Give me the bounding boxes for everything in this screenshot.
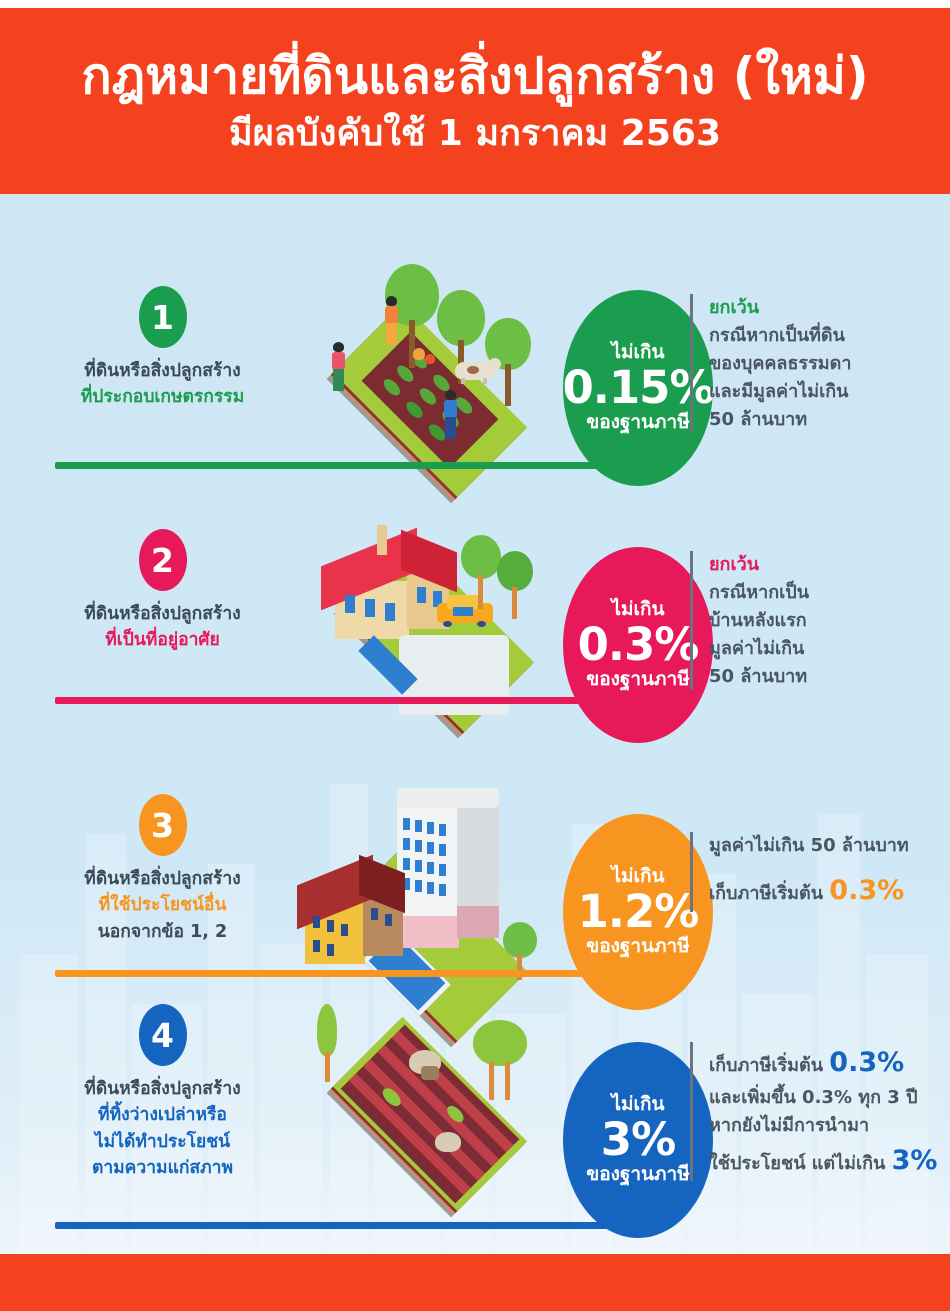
section-1-notes: ยกเว้น กรณีหากเป็นที่ดิน ของบุคคลธรรมดา … [690, 294, 851, 433]
infographic-poster: กฎหมายที่ดินและสิ่งปลูกสร้าง (ใหม่) มีผล… [0, 0, 950, 1311]
section-1-note-line: ของบุคคลธรรมดา [709, 350, 851, 378]
commercial-building-plot-icon [255, 774, 585, 1024]
section-3-label-line-1: ที่ดินหรือสิ่งปลูกสร้าง [40, 866, 285, 892]
section-4-note-4-prefix: ใช้ประโยชน์ แต่ไม่เกิน [709, 1153, 885, 1174]
rate-value-3: 1.2% [578, 888, 699, 935]
section-3-label-line-2: ที่ใช้ประโยชน์อื่น [40, 892, 285, 918]
section-4-note-line-3: หากยังไม่มีการนำมา [709, 1112, 937, 1140]
farmland-plot-icon [265, 260, 595, 510]
footer-band [0, 1254, 950, 1311]
section-3-note-highlight-value: 0.3% [829, 875, 904, 906]
section-number-badge-3: 3 [139, 794, 187, 856]
section-1-note-line: 50 ล้านบาท [709, 406, 851, 434]
poster-body: 1 ที่ดินหรือสิ่งปลูกสร้าง ที่ประกอบเกษตร… [0, 194, 950, 1254]
section-4-label-line-1: ที่ดินหรือสิ่งปลูกสร้าง [40, 1076, 285, 1102]
section-4-note-line-2: และเพิ่มขึ้น 0.3% ทุก 3 ปี [709, 1084, 937, 1112]
section-4-note-1-prefix: เก็บภาษีเริ่มต้น [709, 1055, 823, 1076]
section-number-badge-2: 2 [139, 529, 187, 591]
poster-header: กฎหมายที่ดินและสิ่งปลูกสร้าง (ใหม่) มีผล… [0, 8, 950, 194]
car-icon [437, 595, 497, 627]
section-2-divider [55, 697, 670, 704]
section-1-note-heading: ยกเว้น [709, 294, 851, 322]
section-1-label-line-1: ที่ดินหรือสิ่งปลูกสร้าง [40, 358, 285, 384]
section-1-note-line: และมีมูลค่าไม่เกิน [709, 378, 851, 406]
section-4-note-line-1: เก็บภาษีเริ่มต้น 0.3% [709, 1042, 937, 1084]
tower-windows [401, 818, 457, 904]
section-3-note-highlight-line: เก็บภาษีเริ่มต้น 0.3% [709, 870, 909, 912]
section-3-note-line: มูลค่าไม่เกิน 50 ล้านบาท [709, 832, 909, 860]
section-2-note-line: บ้านหลังแรก [709, 607, 809, 635]
section-4-label-line-3: ไม่ได้ทำประโยชน์ [40, 1129, 285, 1155]
section-4-note-1-value: 0.3% [829, 1047, 904, 1078]
rate-suffix-1: ของฐานภาษี [586, 413, 690, 433]
section-2-notes: ยกเว้น กรณีหากเป็น บ้านหลังแรก มูลค่าไม่… [690, 551, 809, 690]
section-2-note-heading: ยกเว้น [709, 551, 809, 579]
section-1-label-line-2: ที่ประกอบเกษตรกรรม [40, 384, 285, 410]
section-3-note-highlight-prefix: เก็บภาษีเริ่มต้น [709, 883, 823, 904]
section-4-note-line-4: ใช้ประโยชน์ แต่ไม่เกิน 3% [709, 1140, 937, 1182]
section-3-divider [55, 970, 670, 977]
section-4-note-4-value: 3% [892, 1145, 938, 1176]
section-3-label-line-3: นอกจากข้อ 1, 2 [40, 919, 285, 945]
section-residential: 2 ที่ดินหรือสิ่งปลูกสร้าง ที่เป็นที่อยู่… [0, 499, 950, 779]
section-number-badge-4: 4 [139, 1004, 187, 1066]
rate-prefix-1: ไม่เกิน [611, 343, 664, 363]
page-subtitle: มีผลบังคับใช้ 1 มกราคม 2563 [229, 112, 721, 155]
chicken-icon [425, 354, 435, 364]
section-4-divider [55, 1222, 670, 1229]
section-vacant-land: 4 ที่ดินหรือสิ่งปลูกสร้าง ที่ทิ้งว่างเปล… [0, 994, 950, 1254]
rate-suffix-4: ของฐานภาษี [586, 1165, 690, 1185]
page-title: กฎหมายที่ดินและสิ่งปลูกสร้าง (ใหม่) [81, 47, 868, 106]
section-3-label-column: 3 ที่ดินหรือสิ่งปลูกสร้าง ที่ใช้ประโยชน์… [40, 794, 285, 945]
section-2-note-line: มูลค่าไม่เกิน [709, 635, 809, 663]
shophouse-icon [297, 856, 407, 976]
cow-icon [455, 358, 501, 384]
section-1-label-column: 1 ที่ดินหรือสิ่งปลูกสร้าง ที่ประกอบเกษตร… [40, 286, 285, 411]
section-2-label-column: 2 ที่ดินหรือสิ่งปลูกสร้าง ที่เป็นที่อยู่… [40, 529, 285, 654]
rate-value-2: 0.3% [578, 621, 699, 668]
rock-icon [435, 1132, 461, 1152]
section-3-notes: มูลค่าไม่เกิน 50 ล้านบาท เก็บภาษีเริ่มต้… [690, 832, 909, 912]
rate-value-4: 3% [601, 1116, 675, 1163]
section-2-label-line-1: ที่ดินหรือสิ่งปลูกสร้าง [40, 601, 285, 627]
vacant-land-plot-icon [265, 992, 595, 1242]
section-2-label-line-2: ที่เป็นที่อยู่อาศัย [40, 627, 285, 653]
rate-suffix-3: ของฐานภาษี [586, 937, 690, 957]
house-icon [317, 525, 467, 645]
rate-suffix-2: ของฐานภาษี [586, 670, 690, 690]
rate-prefix-2: ไม่เกิน [611, 600, 664, 620]
rate-prefix-4: ไม่เกิน [611, 1095, 664, 1115]
section-1-note-line: กรณีหากเป็นที่ดิน [709, 322, 851, 350]
section-4-notes: เก็บภาษีเริ่มต้น 0.3% และเพิ่มขึ้น 0.3% … [690, 1042, 937, 1181]
chicken-icon [413, 348, 425, 360]
section-2-note-line: กรณีหากเป็น [709, 579, 809, 607]
section-4-label-line-4: ตามความแก่สภาพ [40, 1155, 285, 1181]
section-2-note-line: 50 ล้านบาท [709, 663, 809, 691]
section-4-label-column: 4 ที่ดินหรือสิ่งปลูกสร้าง ที่ทิ้งว่างเปล… [40, 1004, 285, 1181]
rate-prefix-3: ไม่เกิน [611, 867, 664, 887]
section-4-label-line-2: ที่ทิ้งว่างเปล่าหรือ [40, 1102, 285, 1128]
section-1-divider [55, 462, 670, 469]
rock-icon [421, 1066, 439, 1080]
section-number-badge-1: 1 [139, 286, 187, 348]
